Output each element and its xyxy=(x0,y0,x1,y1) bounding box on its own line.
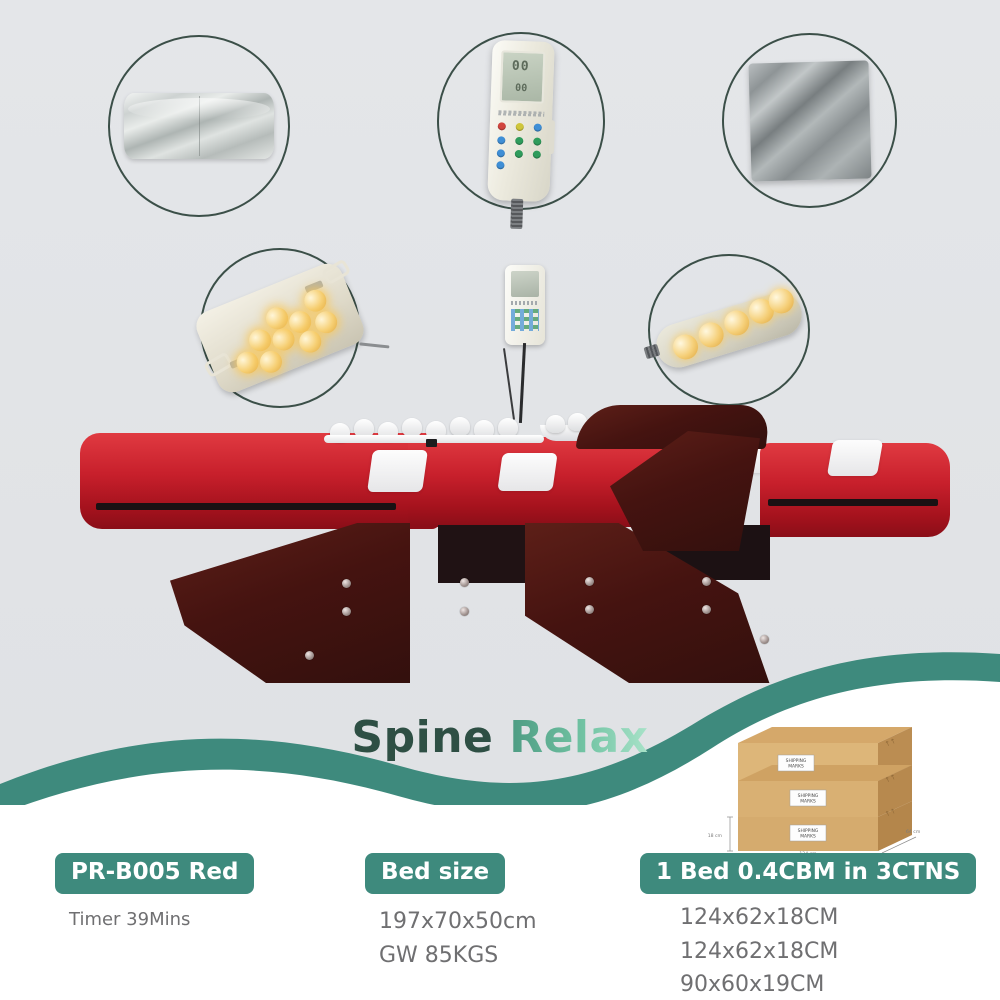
accessory-circle-blanket xyxy=(722,33,897,208)
roller-head-group xyxy=(330,417,540,441)
bed-face-pad-1 xyxy=(367,450,428,492)
jade-projector-image xyxy=(651,287,807,373)
projector-plug xyxy=(643,344,660,360)
remote-cord xyxy=(510,199,523,229)
remote-brand-mark xyxy=(498,110,544,117)
remote-lcd-secondary: 00 xyxy=(515,83,527,94)
spec-line-carton-3: 90x60x19CM xyxy=(640,969,976,1000)
bed-mounted-controller xyxy=(505,265,545,345)
bed-under-block-center xyxy=(438,525,538,583)
infographic-canvas: 00 00 xyxy=(0,0,1000,1000)
svg-text:64 cm: 64 cm xyxy=(906,829,921,835)
title-word-1: Spine xyxy=(351,712,493,763)
page-title: Spine Relax xyxy=(0,712,1000,763)
remote-lcd-primary: 00 xyxy=(512,59,530,75)
spec-block-model: PR-B005 Red Timer 39Mins xyxy=(55,853,254,933)
spec-badge-model: PR-B005 Red xyxy=(55,853,254,894)
accessory-circle-pillow xyxy=(108,35,290,217)
bed-face-pad-3 xyxy=(827,440,883,476)
svg-text:SHIPPING: SHIPPING xyxy=(798,793,819,799)
remote-button-pad xyxy=(495,122,545,170)
svg-text:SHIPPING: SHIPPING xyxy=(798,828,819,834)
remote-lcd-screen: 00 00 xyxy=(500,50,546,104)
spec-badge-bed-size: Bed size xyxy=(365,853,505,894)
blanket-image xyxy=(748,60,871,181)
bed-face-pad-2 xyxy=(497,453,557,491)
svg-text:18 cm: 18 cm xyxy=(708,833,723,839)
bed-trim-right xyxy=(768,499,938,506)
svg-text:MARKS: MARKS xyxy=(800,834,816,840)
pillow-image xyxy=(124,93,274,159)
jade-roller-pad-image xyxy=(192,259,369,397)
spec-badge-packing: 1 Bed 0.4CBM in 3CTNS xyxy=(640,853,976,894)
title-word-2: Relax xyxy=(509,712,648,763)
svg-text:MARKS: MARKS xyxy=(800,799,816,805)
accessory-circle-jade-projector xyxy=(648,254,810,406)
remote-controller-image: 00 00 xyxy=(487,40,555,202)
accessory-circle-remote: 00 00 xyxy=(437,32,605,210)
spec-line-carton-1: 124x62x18CM xyxy=(640,902,976,933)
spec-block-packing: 1 Bed 0.4CBM in 3CTNS 124x62x18CM 124x62… xyxy=(640,853,976,1000)
spec-line-carton-2: 124x62x18CM xyxy=(640,936,976,967)
svg-text:MARKS: MARKS xyxy=(788,764,804,770)
spec-line-timer: Timer 39Mins xyxy=(55,906,254,933)
spec-block-bed-size: Bed size 197x70x50cm GW 85KGS xyxy=(365,853,537,971)
bed-trim-left xyxy=(96,503,396,510)
spec-line-weight: GW 85KGS xyxy=(365,940,537,971)
spec-line-dimensions: 197x70x50cm xyxy=(365,906,537,937)
remote-side-tab xyxy=(549,120,555,154)
accessory-circle-jade-roller-pad xyxy=(200,248,360,408)
